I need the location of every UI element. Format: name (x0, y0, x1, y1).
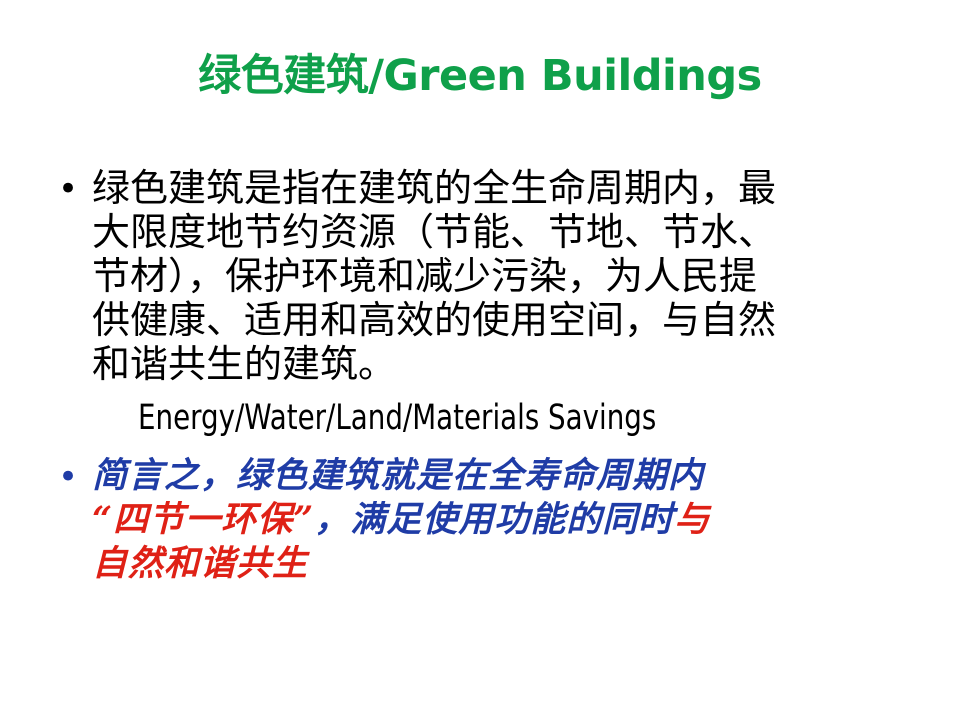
summary-segment: 简言之，绿色建筑就是在全寿命周期内 (92, 455, 704, 496)
summary-segment-emphasis: 自然和谐共生 (92, 543, 308, 584)
summary-segment: ，满足使用功能的同时 (314, 499, 674, 540)
bullet-one-content: 绿色建筑是指在建筑的全生命周期内，最 大限度地节约资源（节能、节地、节水、 节材… (92, 166, 917, 440)
summary-line-3: 自然和谐共生 (92, 542, 917, 586)
summary-line-1: 简言之，绿色建筑就是在全寿命周期内 (92, 454, 917, 498)
bullet-marker-icon: • (52, 454, 92, 500)
definition-line-2: 大限度地节约资源（节能、节地、节水、 (92, 210, 917, 254)
bullet-item-summary: • 简言之，绿色建筑就是在全寿命周期内 “四节一环保”，满足使用功能的同时与 自… (52, 454, 917, 586)
definition-line-5: 和谐共生的建筑。 (92, 342, 917, 386)
summary-segment-emphasis: “四节一环保” (92, 499, 314, 540)
summary-line-2: “四节一环保”，满足使用功能的同时与 (92, 498, 917, 542)
definition-line-3: 节材），保护环境和减少污染，为人民提 (92, 254, 917, 298)
bullet-marker-icon: • (52, 166, 92, 212)
summary-paragraph: 简言之，绿色建筑就是在全寿命周期内 “四节一环保”，满足使用功能的同时与 自然和… (92, 454, 917, 586)
presentation-slide: 绿色建筑/Green Buildings • 绿色建筑是指在建筑的全生命周期内，… (0, 0, 960, 720)
savings-subline: Energy/Water/Land/Materials Savings (138, 396, 824, 440)
definition-line-1: 绿色建筑是指在建筑的全生命周期内，最 (92, 166, 917, 210)
slide-title: 绿色建筑/Green Buildings (0, 52, 960, 101)
slide-body: • 绿色建筑是指在建筑的全生命周期内，最 大限度地节约资源（节能、节地、节水、 … (52, 166, 917, 586)
definition-paragraph: 绿色建筑是指在建筑的全生命周期内，最 大限度地节约资源（节能、节地、节水、 节材… (92, 166, 917, 386)
definition-line-4: 供健康、适用和高效的使用空间，与自然 (92, 298, 917, 342)
slide-empty-area (0, 640, 960, 720)
bullet-item-definition: • 绿色建筑是指在建筑的全生命周期内，最 大限度地节约资源（节能、节地、节水、 … (52, 166, 917, 440)
bullet-two-content: 简言之，绿色建筑就是在全寿命周期内 “四节一环保”，满足使用功能的同时与 自然和… (92, 454, 917, 586)
summary-segment-emphasis: 与 (674, 499, 710, 540)
